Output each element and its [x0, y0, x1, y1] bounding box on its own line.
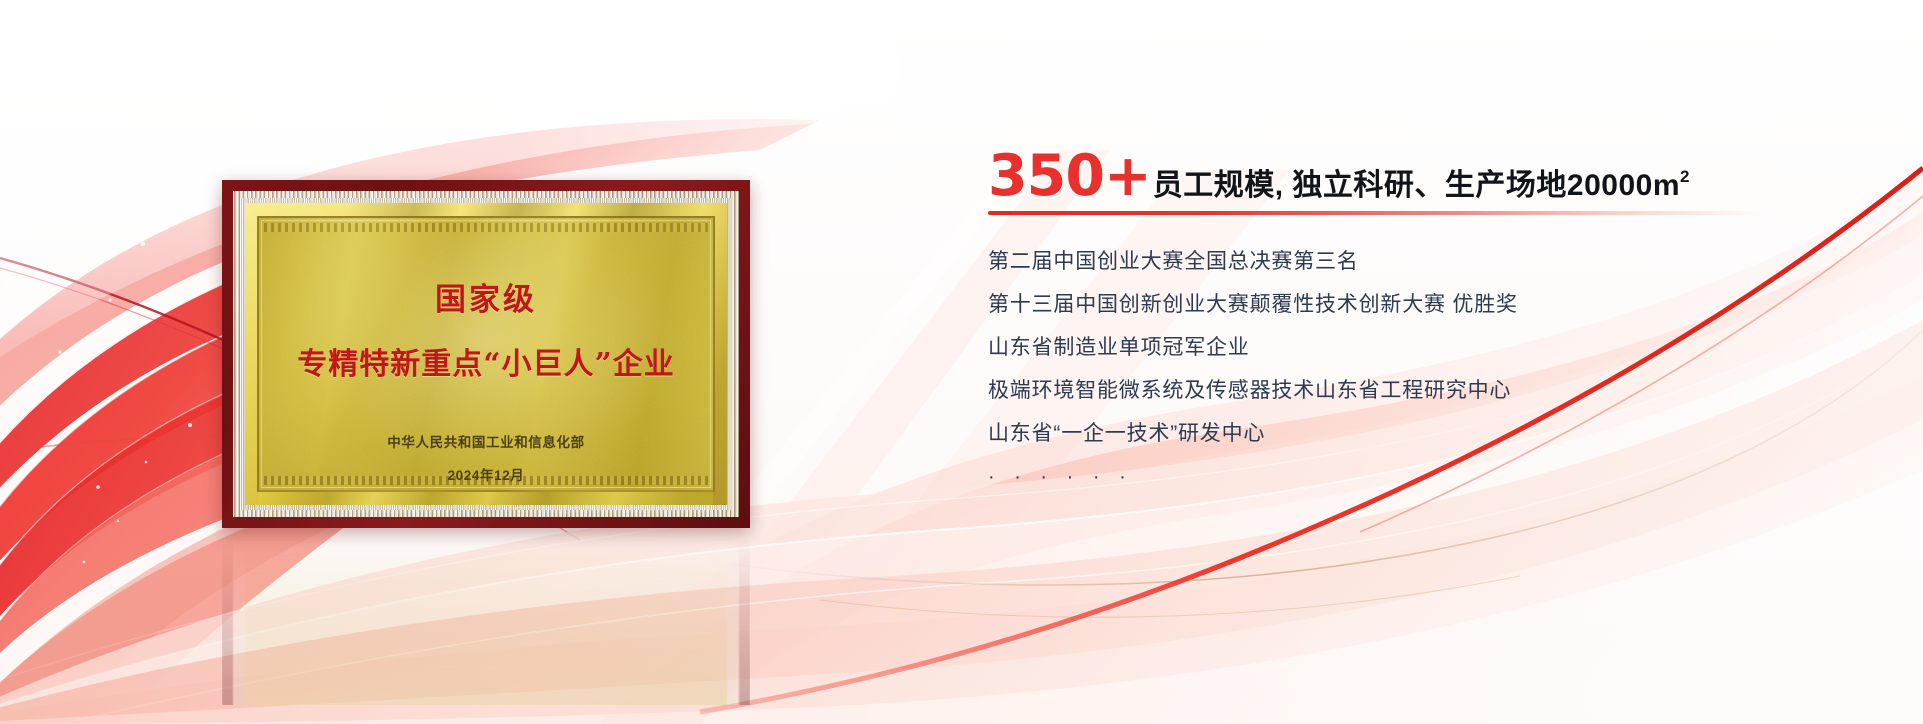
honors-ellipsis: · · · · · · [988, 466, 1868, 489]
plaque-title-line-2: 专精特新重点“小巨人”企业 [259, 339, 713, 383]
honor-item: 山东省“一企一技术”研发中心 [988, 423, 1868, 444]
headline-metric-text: 员工规模, 独立科研、生产场地20000m [1153, 171, 1680, 201]
honor-item: 山东省制造业单项冠军企业 [988, 337, 1868, 358]
award-plaque: 国家级 专精特新重点“小巨人”企业 中华人民共和国工业和信息化部 2024年12… [222, 180, 750, 528]
plaque-text-block: 国家级 专精特新重点“小巨人”企业 中华人民共和国工业和信息化部 2024年12… [259, 218, 713, 484]
honor-item: 第二届中国创业大赛全国总决赛第三名 [988, 251, 1868, 272]
plaque-gold-panel: 国家级 专精特新重点“小巨人”企业 中华人民共和国工业和信息化部 2024年12… [257, 216, 715, 492]
plaque-outer-frame: 国家级 专精特新重点“小巨人”企业 中华人民共和国工业和信息化部 2024年12… [222, 180, 750, 528]
plaque-date: 2024年12月 [259, 464, 713, 484]
headline-underline [988, 211, 1762, 215]
plaque-title-line-1: 国家级 [259, 274, 713, 319]
plaque-ornate-border: 国家级 专精特新重点“小巨人”企业 中华人民共和国工业和信息化部 2024年12… [233, 191, 739, 517]
honors-list: 第二届中国创业大赛全国总决赛第三名 第十三届中国创新创业大赛颠覆性技术创新大赛 … [988, 251, 1868, 489]
headline-superscript: 2 [1680, 168, 1689, 185]
plaque-inner-border: 国家级 专精特新重点“小巨人”企业 中华人民共和国工业和信息化部 2024年12… [240, 198, 732, 510]
honor-item: 极端环境智能微系统及传感器技术山东省工程研究中心 [988, 380, 1868, 401]
content-column: 350+ 员工规模, 独立科研、生产场地20000m 2 第二届中国创业大赛全国… [988, 148, 1868, 489]
plaque-issuer: 中华人民共和国工业和信息化部 [259, 431, 713, 451]
banner-stage: 国家级 专精特新重点“小巨人”企业 中华人民共和国工业和信息化部 2024年12… [0, 0, 1923, 724]
honor-item: 第十三届中国创新创业大赛颠覆性技术创新大赛 优胜奖 [988, 294, 1868, 315]
headline: 350+ 员工规模, 独立科研、生产场地20000m 2 [988, 148, 1868, 205]
plaque-gold-outer: 国家级 专精特新重点“小巨人”企业 中华人民共和国工业和信息化部 2024年12… [245, 203, 727, 505]
headline-metric-number: 350+ [988, 148, 1151, 205]
